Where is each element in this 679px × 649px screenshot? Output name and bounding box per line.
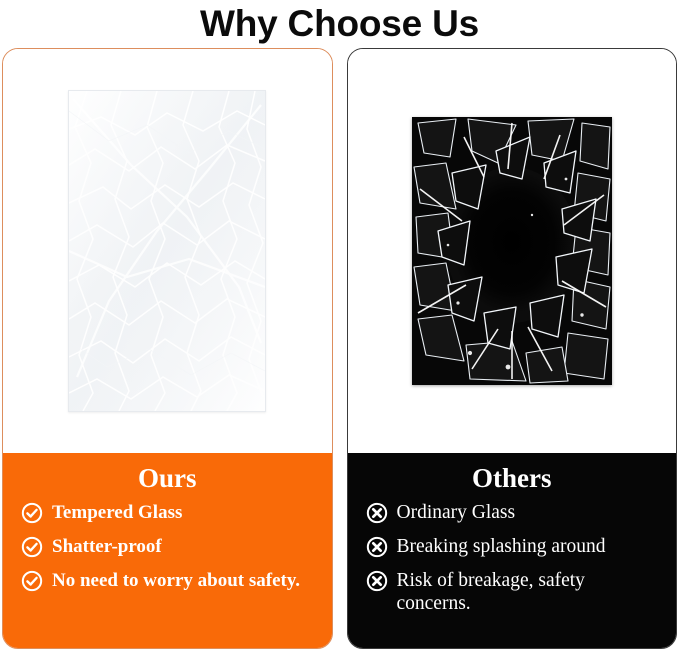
comparison-row: Ours Tempered Glass	[0, 48, 679, 649]
list-item: Risk of breakage, safety concerns.	[366, 569, 663, 615]
ours-heading: Ours	[17, 461, 318, 495]
page-title: Why Choose Us	[0, 0, 679, 46]
list-item-label: Shatter-proof	[52, 535, 318, 558]
x-circle-icon	[366, 570, 388, 592]
check-circle-icon	[21, 502, 43, 524]
tempered-glass-image	[68, 90, 266, 412]
comparison-card-ours: Ours Tempered Glass	[2, 48, 333, 649]
list-item-label: Tempered Glass	[52, 501, 318, 524]
list-item-label: Breaking splashing around	[397, 535, 663, 558]
list-item: Shatter-proof	[21, 535, 318, 558]
comparison-card-others: Others Ordinary Glass	[347, 48, 678, 649]
list-item-label: Risk of breakage, safety concerns.	[397, 569, 663, 615]
list-item: Ordinary Glass	[366, 501, 663, 524]
others-feature-list: Ordinary Glass Breaking splashing around	[362, 501, 663, 615]
x-circle-icon	[366, 502, 388, 524]
x-circle-icon	[366, 536, 388, 558]
list-item: Tempered Glass	[21, 501, 318, 524]
list-item: No need to worry about safety.	[21, 569, 318, 592]
broken-glass-image	[412, 117, 612, 385]
list-item-label: No need to worry about safety.	[52, 569, 318, 592]
others-heading: Others	[362, 461, 663, 495]
list-item: Breaking splashing around	[366, 535, 663, 558]
ours-media-area	[3, 49, 332, 453]
check-circle-icon	[21, 570, 43, 592]
ours-panel: Ours Tempered Glass	[3, 453, 332, 648]
list-item-label: Ordinary Glass	[397, 501, 663, 524]
check-circle-icon	[21, 536, 43, 558]
ours-feature-list: Tempered Glass Shatter-proof	[17, 501, 318, 592]
others-media-area	[348, 49, 677, 453]
others-panel: Others Ordinary Glass	[348, 453, 677, 648]
